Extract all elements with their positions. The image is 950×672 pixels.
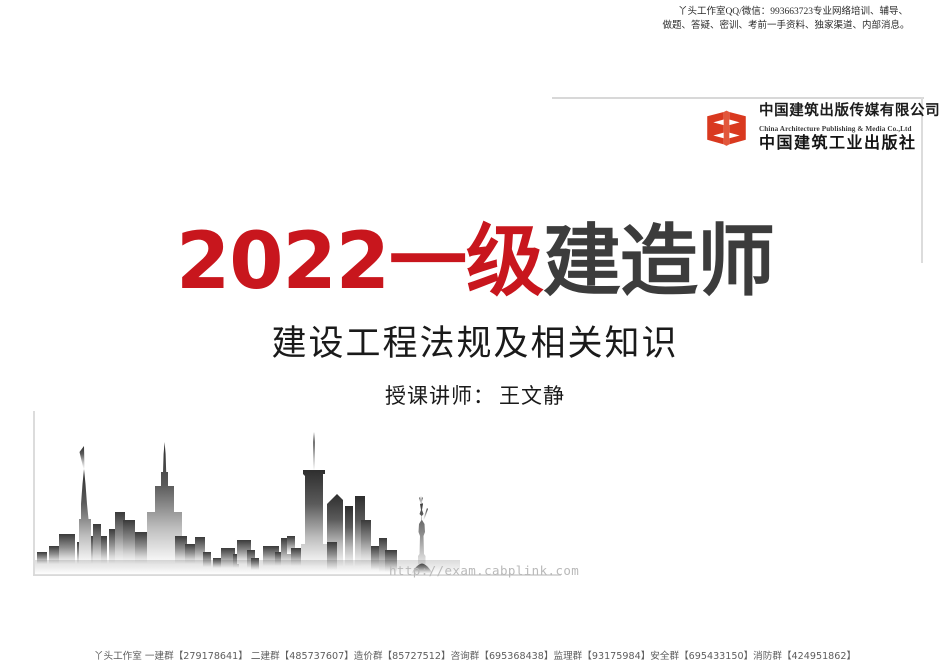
publisher-imprint-cn: 中国建筑工业出版社 [759, 133, 917, 152]
page-title: 2022一级建造师 [0, 218, 950, 305]
page-subtitle: 建设工程法规及相关知识 [0, 322, 950, 366]
publisher-text: 中国建筑出版传媒有限公司 China Architecture Publishi… [759, 103, 940, 152]
footer-groups: 丫头工作室 一建群【279178641】 二建群【485737607】造价群【8… [0, 650, 950, 664]
page-title-exam-name: 建造师 [543, 217, 774, 307]
lecturer-line: 授课讲师：王文静 [0, 381, 950, 411]
city-skyline-silhouette-icon [35, 424, 460, 575]
publisher-name-cn: 中国建筑出版传媒有限公司 [759, 103, 940, 119]
divider-top-horizontal [552, 97, 924, 99]
top-note-line-1: 丫头工作室QQ/微信：993663723专业网络培训、辅导、 [636, 5, 936, 19]
publisher-logo-block: 中国建筑出版传媒有限公司 China Architecture Publishi… [703, 103, 940, 152]
lecturer-label: 授课讲师： [385, 384, 495, 408]
page-title-year-level: 2022一级 [176, 217, 543, 307]
lecturer-name: 王文静 [495, 384, 565, 408]
top-note-line-2: 做题、答疑、密训、考前一手资料、独家渠道、内部消息。 [636, 19, 936, 33]
watermark-url: http://exam.cabplink.com [389, 563, 579, 578]
publisher-name-en: China Architecture Publishing & Media Co… [759, 125, 912, 133]
top-watermark-note: 丫头工作室QQ/微信：993663723专业网络培训、辅导、 做题、答疑、密训、… [636, 5, 936, 33]
open-book-logo-icon [703, 104, 750, 151]
